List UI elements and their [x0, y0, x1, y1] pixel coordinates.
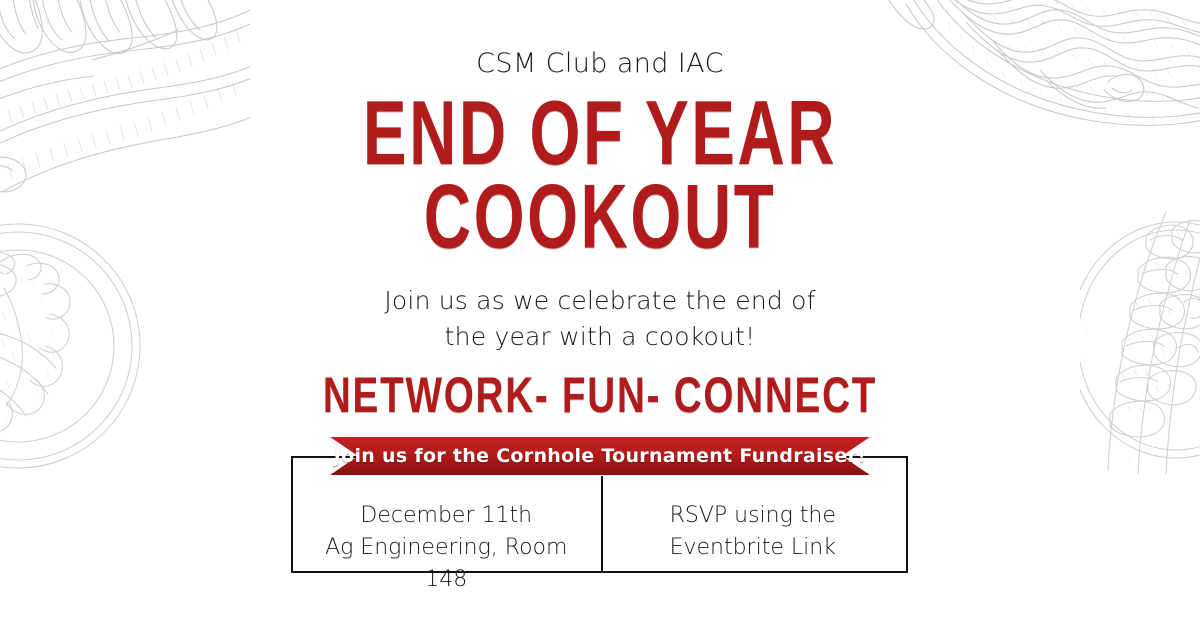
event-date: December 11th: [305, 500, 588, 532]
event-flyer: CSM Club and IAC END OF YEAR COOKOUT Joi…: [0, 0, 1200, 627]
rsvp-eventbrite-link[interactable]: Eventbrite Link: [612, 532, 895, 564]
event-description-line-1: Join us as we celebrate the end of: [0, 283, 1200, 319]
page-title-line-1: END OF YEAR: [96, 92, 1104, 175]
event-location: Ag Engineering, Room 148: [305, 532, 588, 596]
fundraiser-ribbon-banner: Join us for the Cornhole Tournament Fund…: [330, 437, 870, 475]
event-description: Join us as we celebrate the end of the y…: [0, 283, 1200, 354]
page-title-line-2: COOKOUT: [96, 175, 1104, 258]
ribbon-label: Join us for the Cornhole Tournament Fund…: [330, 437, 870, 475]
event-tagline: NETWORK- FUN- CONNECT: [84, 366, 1116, 424]
event-date-location: December 11th Ag Engineering, Room 148: [293, 480, 600, 596]
rsvp-line-1: RSVP using the: [612, 500, 895, 532]
event-details-cells: December 11th Ag Engineering, Room 148 R…: [293, 480, 906, 596]
event-description-line-2: the year with a cookout!: [0, 319, 1200, 355]
event-rsvp[interactable]: RSVP using the Eventbrite Link: [600, 480, 907, 596]
flyer-content: CSM Club and IAC END OF YEAR COOKOUT Joi…: [0, 0, 1200, 627]
organization-kicker: CSM Club and IAC: [0, 48, 1200, 79]
page-title: END OF YEAR COOKOUT: [96, 92, 1104, 258]
